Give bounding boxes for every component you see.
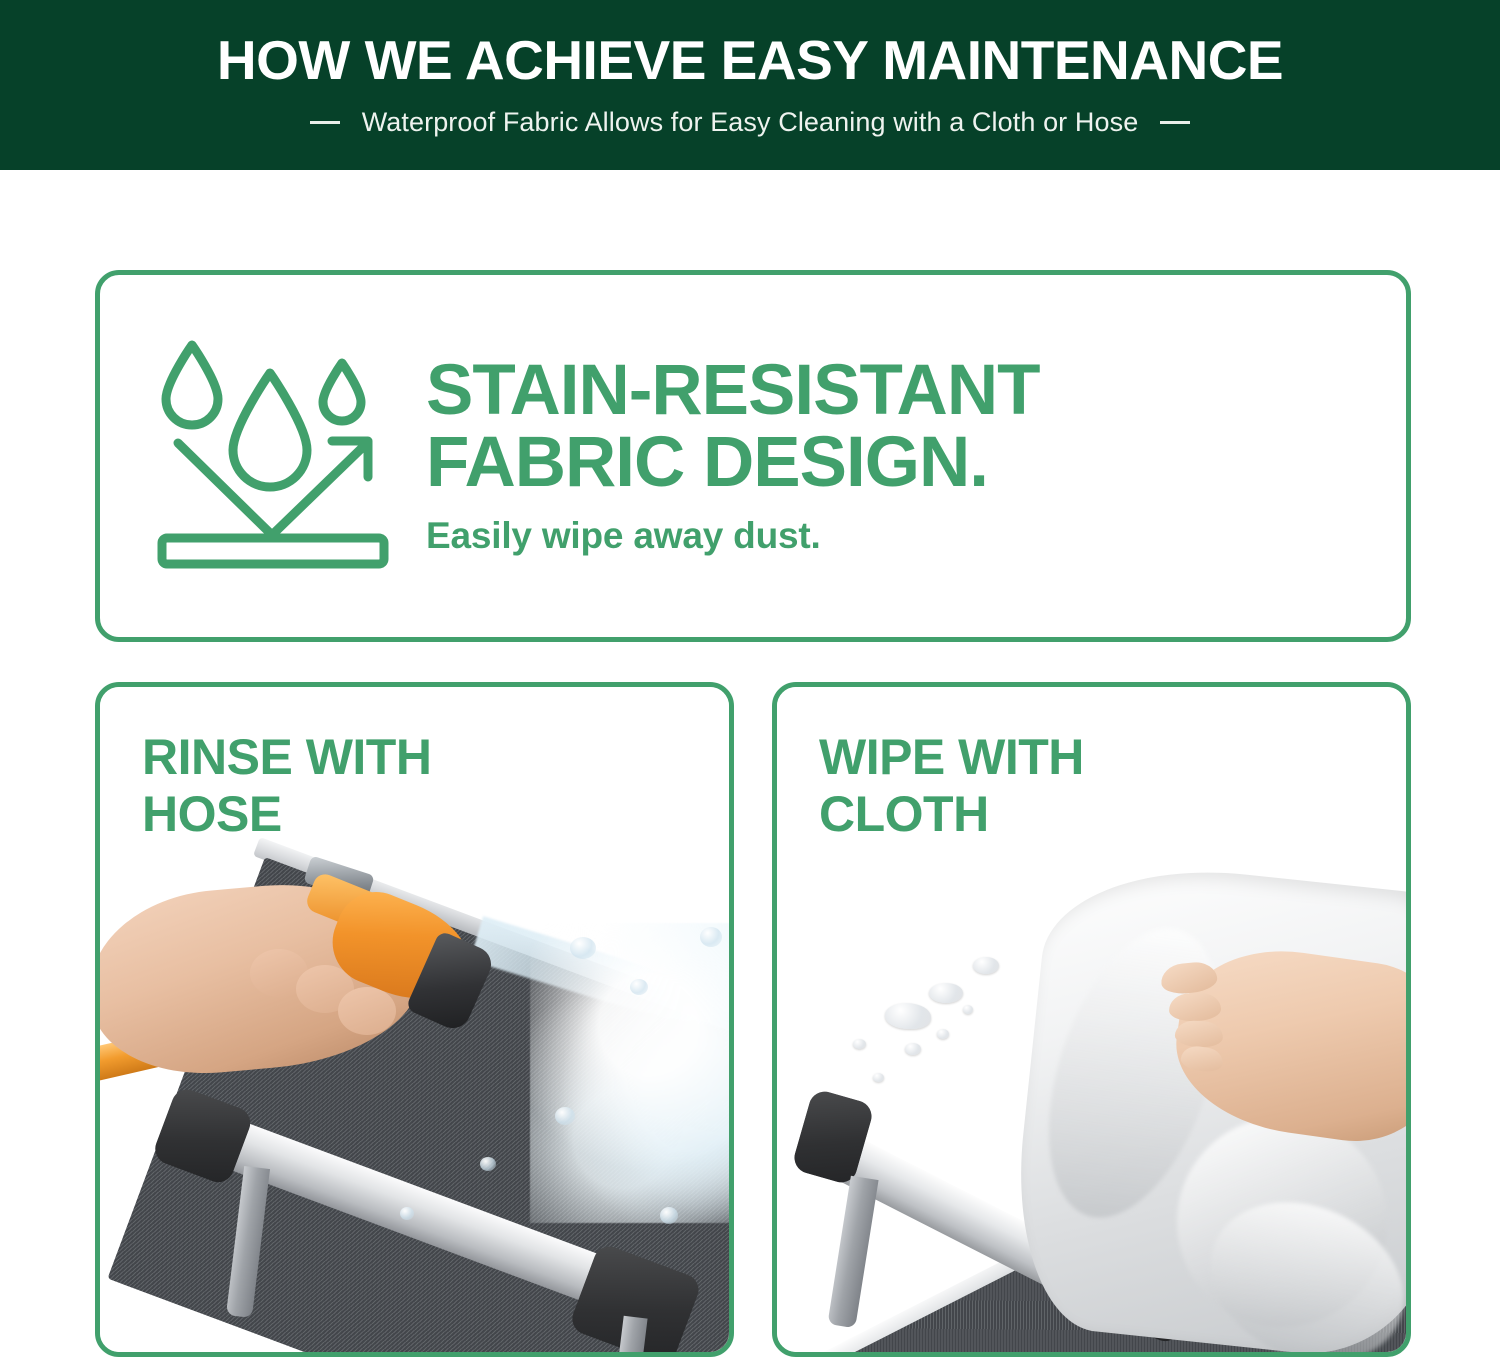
water-bead (853, 1039, 866, 1049)
water-repellent-fabric-icon (146, 335, 400, 577)
dash-right-icon (1160, 121, 1190, 124)
stain-resistant-text-block: STAIN-RESISTANT FABRIC DESIGN. Easily wi… (426, 355, 1039, 558)
water-bead (963, 1005, 973, 1014)
page-subtitle: Waterproof Fabric Allows for Easy Cleani… (362, 107, 1139, 138)
wipe-photo (777, 687, 1406, 1352)
knuckle (338, 987, 396, 1035)
stain-resistant-heading: STAIN-RESISTANT FABRIC DESIGN. (426, 355, 1039, 500)
splash-droplet (400, 1207, 414, 1220)
water-bead (885, 1003, 931, 1029)
water-splash (530, 923, 734, 1223)
stain-resistant-card: STAIN-RESISTANT FABRIC DESIGN. Easily wi… (95, 270, 1411, 642)
splash-droplet (660, 1207, 678, 1224)
water-bead (873, 1073, 884, 1082)
page-header: HOW WE ACHIEVE EASY MAINTENANCE Waterpro… (0, 0, 1500, 170)
splash-droplet (480, 1157, 496, 1171)
water-bead (905, 1043, 921, 1055)
cot-leg-front (827, 1176, 878, 1329)
subtitle-row: Waterproof Fabric Allows for Easy Cleani… (310, 107, 1191, 138)
splash-droplet (555, 1107, 575, 1125)
page-title: HOW WE ACHIEVE EASY MAINTENANCE (217, 33, 1283, 88)
wipe-with-cloth-card: WIPE WITH CLOTH (772, 682, 1411, 1357)
splash-droplet (630, 979, 648, 995)
stain-resistant-card-inner: STAIN-RESISTANT FABRIC DESIGN. Easily wi… (100, 275, 1406, 637)
rinse-with-hose-card: RINSE WITH HOSE (95, 682, 734, 1357)
finger (1169, 992, 1222, 1022)
splash-droplet (700, 927, 722, 947)
water-bead (937, 1029, 949, 1039)
rinse-photo (100, 687, 729, 1352)
stain-resistant-subheading: Easily wipe away dust. (426, 515, 1039, 557)
water-bead (929, 983, 963, 1003)
infographic-page: HOW WE ACHIEVE EASY MAINTENANCE Waterpro… (0, 0, 1500, 1366)
dash-left-icon (310, 121, 340, 124)
splash-droplet (570, 937, 596, 959)
water-bead (973, 957, 999, 974)
